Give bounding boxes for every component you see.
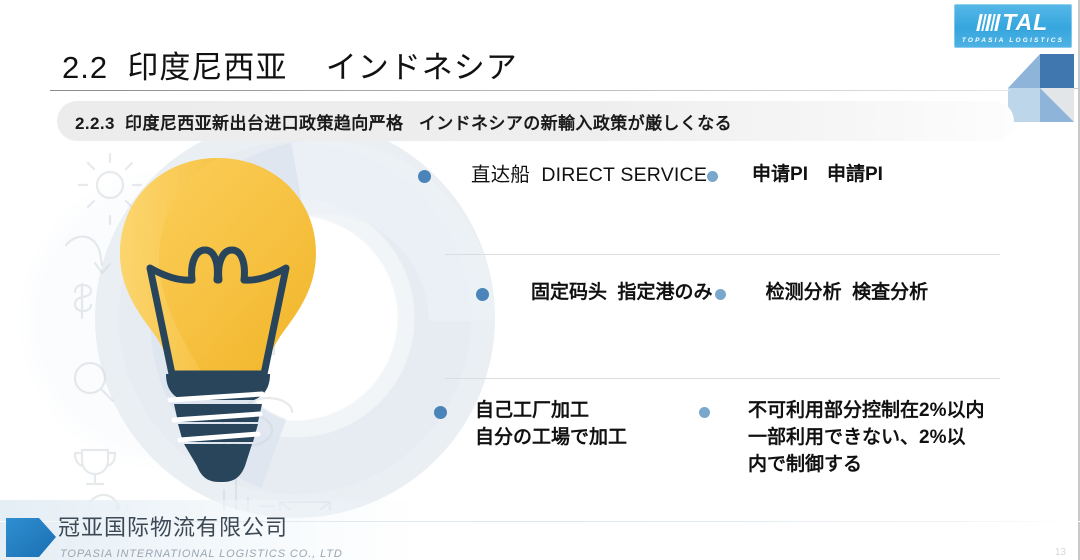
row-separator (445, 378, 1000, 379)
footer-company-name-en: TOPASIA INTERNATIONAL LOGISTICS CO., LTD (60, 548, 343, 560)
row-left-group: 固定码头 指定港のみ (476, 280, 713, 307)
row-left-group: 直达船 DIRECT SERVICE (418, 162, 707, 190)
pinwheel-decoration-icon (1002, 52, 1078, 124)
row-left-group: 自己工厂加工 自分の工場で加工 (434, 398, 627, 452)
section-subtitle-bar: 2.2.3 印度尼西亚新出台进口政策趋向严格 インドネシアの新輸入政策が厳しくな… (57, 101, 1014, 141)
row-right-group: 申请PI 申請PI (707, 162, 883, 189)
title-divider (50, 90, 1010, 91)
row-right-group: 不可利用部分控制在2%以内 一部利用できない、2%以 内で制御する (699, 398, 984, 479)
lightbulb-icon (88, 148, 348, 508)
row-left-text: 直达船 DIRECT SERVICE (471, 162, 707, 190)
row-left-text: 自己工厂加工 自分の工場で加工 (475, 398, 627, 452)
content-row: 固定码头 指定港のみ 检测分析 検査分析 (400, 280, 1040, 307)
tal-logo-tagline: TOPASIA LOGISTICS (962, 37, 1064, 44)
bullet-icon (715, 289, 726, 300)
bullet-icon (476, 288, 489, 301)
row-right-group: 检测分析 検査分析 (715, 280, 929, 307)
content-row: 直达船 DIRECT SERVICE 申请PI 申請PI (400, 162, 1040, 190)
content-row: 自己工厂加工 自分の工場で加工 不可利用部分控制在2%以内 一部利用できない、2… (400, 398, 1040, 479)
slide-canvas: TAL TOPASIA LOGISTICS 2.2 印度尼西亚 インドネシア 2… (0, 0, 1080, 560)
content-rows: 直达船 DIRECT SERVICE 申请PI 申請PI 固定码头 指定港のみ … (400, 150, 1040, 520)
section-subtitle-text: 2.2.3 印度尼西亚新出台进口政策趋向严格 インドネシアの新輸入政策が厳しくな… (57, 109, 732, 134)
bullet-icon (434, 406, 447, 419)
bullet-icon (699, 407, 710, 418)
tal-logo: TAL TOPASIA LOGISTICS (954, 4, 1072, 48)
row-right-text: 申请PI 申請PI (752, 162, 883, 189)
bullet-icon (418, 170, 431, 183)
bullet-icon (707, 171, 718, 182)
footer-company-name-cn: 冠亚国际物流有限公司 (58, 510, 288, 542)
row-separator (445, 254, 1000, 255)
tal-logo-word: TAL (1002, 11, 1048, 34)
page-title: 2.2 印度尼西亚 インドネシア (62, 42, 518, 87)
hexagon-logo-icon (6, 512, 58, 558)
row-right-text: 检测分析 検査分析 (766, 280, 929, 307)
row-right-text: 不可利用部分控制在2%以内 一部利用できない、2%以 内で制御する (748, 398, 984, 479)
tal-logo-row: TAL (978, 10, 1049, 36)
page-number: 13 (1055, 547, 1066, 558)
row-left-text: 固定码头 指定港のみ (531, 280, 713, 307)
tal-stripes-icon (976, 14, 1000, 31)
